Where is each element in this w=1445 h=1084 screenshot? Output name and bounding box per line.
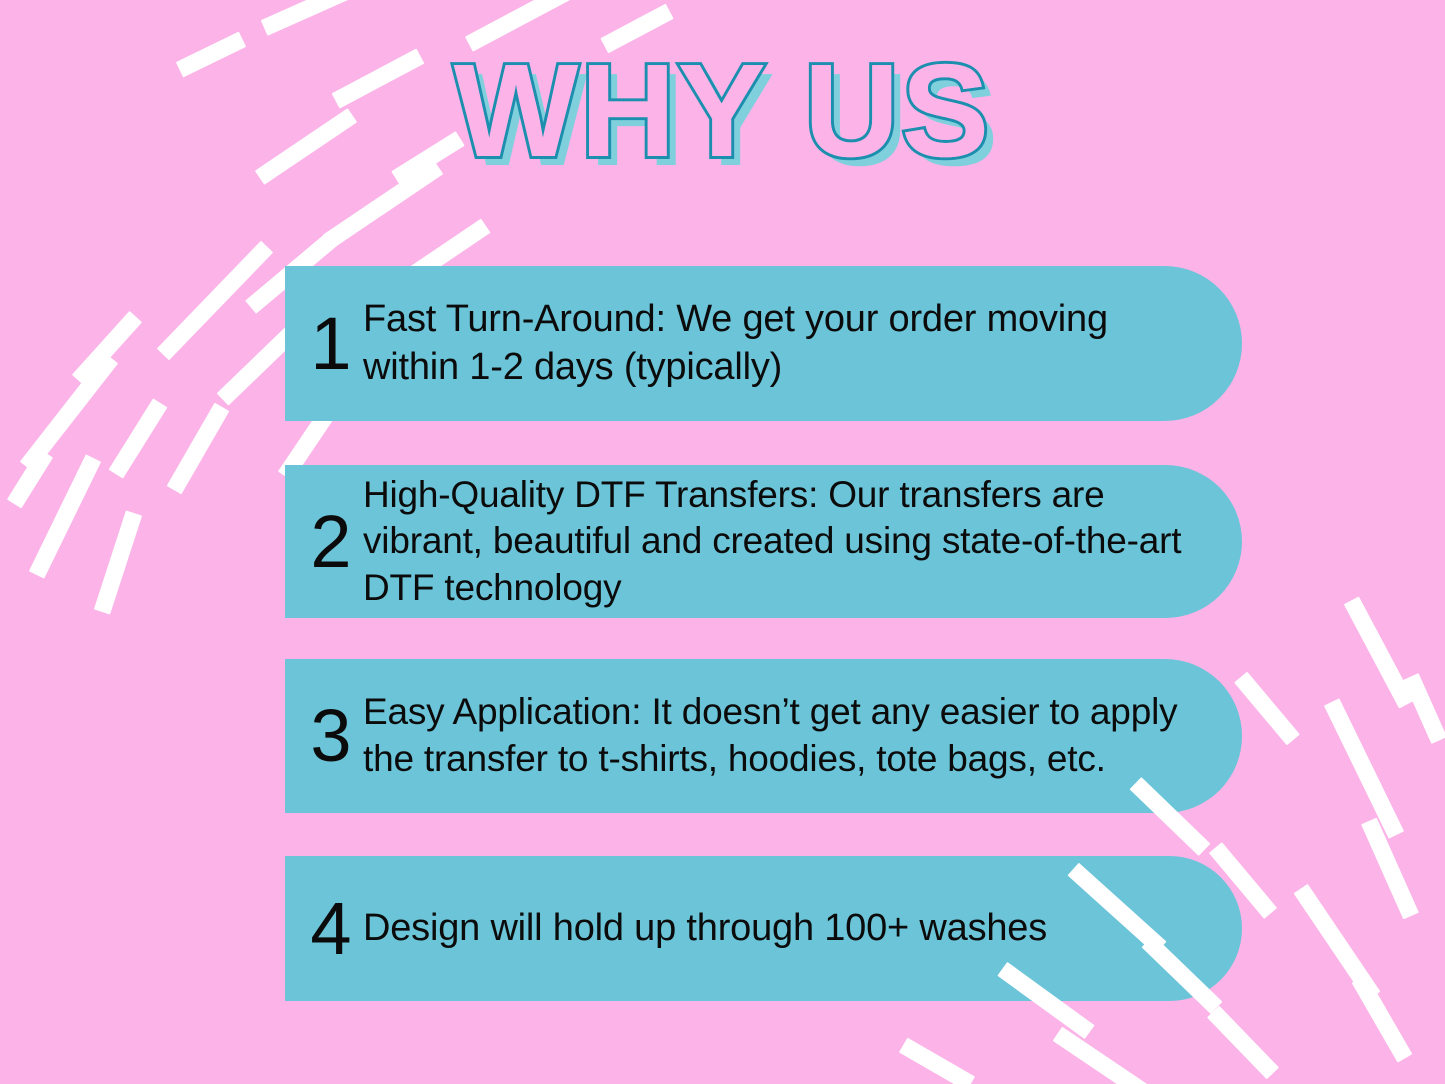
decorative-dash [1324, 698, 1404, 838]
benefit-number-4: 4 [285, 892, 363, 966]
benefit-card-4: 4 Design will hold up through 100+ washe… [285, 856, 1242, 1001]
decorative-dash [1344, 596, 1414, 708]
decorative-dash [1053, 1027, 1154, 1084]
benefit-number-2: 2 [285, 505, 363, 579]
benefit-card-2: 2 High-Quality DTF Transfers: Our transf… [285, 465, 1242, 618]
decorative-dash [1361, 818, 1419, 920]
decorative-dash [1294, 884, 1381, 1001]
benefit-card-1: 1 Fast Turn-Around: We get your order mo… [285, 266, 1242, 421]
benefit-text-3: Easy Application: It doesn’t get any eas… [363, 689, 1223, 782]
decorative-dash [94, 510, 142, 614]
decorative-dash [1403, 673, 1445, 744]
decorative-dash [20, 353, 118, 472]
decorative-dash [1352, 974, 1413, 1062]
benefit-text-4: Design will hold up through 100+ washes [363, 905, 1087, 953]
decorative-dash [29, 454, 101, 578]
decorative-dash [899, 1038, 975, 1084]
decorative-dash [72, 311, 142, 386]
decorative-dash [7, 449, 53, 509]
page-title: WHY US WHY US WHY US [0, 36, 1445, 186]
benefit-text-1: Fast Turn-Around: We get your order movi… [363, 296, 1223, 392]
benefit-number-3: 3 [285, 699, 363, 773]
why-us-infographic: WHY US WHY US WHY US 1 Fast Turn-Around:… [0, 0, 1445, 1084]
title-fill-text: WHY US [0, 36, 1445, 186]
benefit-number-1: 1 [285, 307, 363, 381]
benefit-card-3: 3 Easy Application: It doesn’t get any e… [285, 659, 1242, 813]
decorative-dash [167, 403, 230, 495]
decorative-dash [109, 398, 168, 478]
decorative-dash [1207, 1006, 1279, 1080]
decorative-dash [1234, 672, 1300, 746]
decorative-dash [261, 0, 356, 36]
benefit-text-2: High-Quality DTF Transfers: Our transfer… [363, 472, 1223, 612]
decorative-dash [157, 241, 273, 361]
